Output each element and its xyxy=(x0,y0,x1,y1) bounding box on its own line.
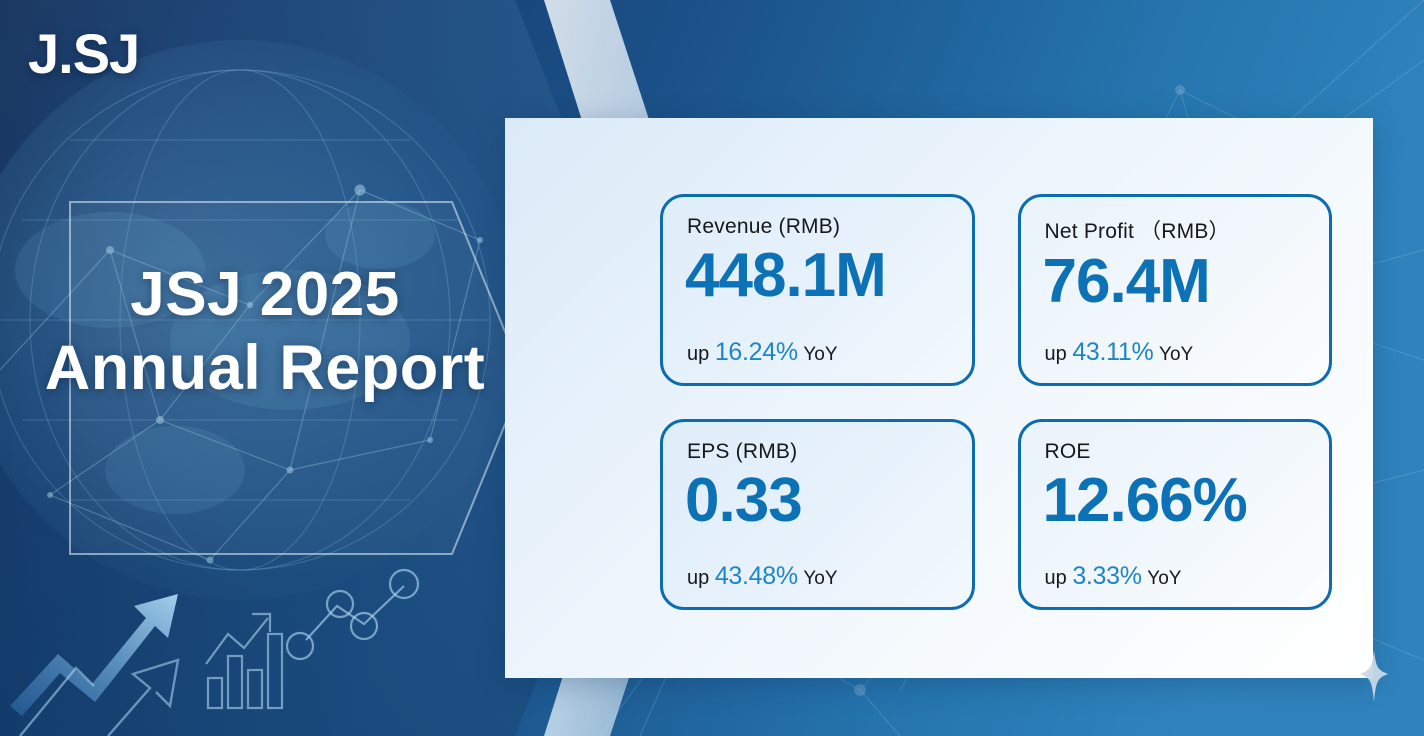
delta-prefix: up xyxy=(1045,343,1067,365)
delta-suffix: YoY xyxy=(803,344,837,365)
company-logo[interactable]: J.SJ xyxy=(28,26,139,82)
headline-line-2: Annual Report xyxy=(0,331,530,405)
metrics-grid: Revenue (RMB) 448.1M up 16.24% YoY Net P… xyxy=(660,194,1332,610)
delta-prefix: up xyxy=(1045,567,1067,589)
delta-prefix: up xyxy=(687,567,709,589)
metric-label: ROE xyxy=(1045,440,1308,464)
metric-card-roe[interactable]: ROE 12.66% up 3.33% YoY xyxy=(1018,419,1333,611)
delta-percent: 43.48% xyxy=(715,562,798,590)
metric-label: Net Profit （RMB） xyxy=(1045,215,1308,245)
metric-delta: up 43.11% YoY xyxy=(1045,338,1308,367)
metric-delta: up 16.24% YoY xyxy=(687,338,950,367)
sparkle-icon xyxy=(1330,648,1390,708)
delta-percent: 3.33% xyxy=(1072,562,1141,590)
delta-suffix: YoY xyxy=(803,568,837,589)
metric-label: EPS (RMB) xyxy=(687,440,950,464)
metric-label: Revenue (RMB) xyxy=(687,215,950,239)
metric-value: 12.66% xyxy=(1043,468,1308,535)
metric-card-eps[interactable]: EPS (RMB) 0.33 up 43.48% YoY xyxy=(660,419,975,611)
metric-delta: up 43.48% YoY xyxy=(687,562,950,591)
delta-percent: 43.11% xyxy=(1072,338,1153,366)
delta-suffix: YoY xyxy=(1159,344,1193,365)
report-banner: J.SJ JSJ 2025 Annual Report Revenue (RMB… xyxy=(0,0,1424,736)
metric-value: 448.1M xyxy=(685,243,950,310)
metric-delta: up 3.33% YoY xyxy=(1045,562,1308,591)
delta-prefix: up xyxy=(687,343,709,365)
metric-value: 0.33 xyxy=(685,468,950,535)
delta-percent: 16.24% xyxy=(715,338,798,366)
metric-card-net-profit[interactable]: Net Profit （RMB） 76.4M up 43.11% YoY xyxy=(1018,194,1333,386)
headline-line-1: JSJ 2025 xyxy=(130,260,399,329)
metric-value: 76.4M xyxy=(1043,249,1308,316)
metric-card-revenue[interactable]: Revenue (RMB) 448.1M up 16.24% YoY xyxy=(660,194,975,386)
delta-suffix: YoY xyxy=(1147,568,1181,589)
page-title: JSJ 2025 Annual Report xyxy=(0,258,530,405)
